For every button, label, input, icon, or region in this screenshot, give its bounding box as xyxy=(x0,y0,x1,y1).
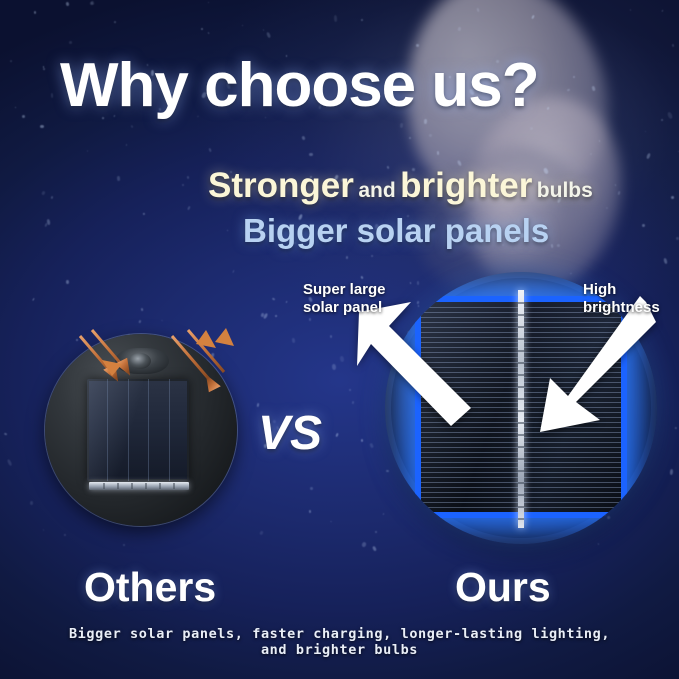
subtitle-word-stronger: Stronger xyxy=(208,166,354,205)
panel-cell-divider xyxy=(148,379,149,481)
label-versus: VS xyxy=(258,406,322,461)
callout-high-brightness: High brightness xyxy=(583,281,660,318)
subtitle-line-1: Stronger and brighter bulbs xyxy=(208,166,593,206)
panel-cell-divider xyxy=(169,379,170,481)
caption-line-1: Bigger solar panels, faster charging, lo… xyxy=(0,627,679,643)
callout-super-large-solar-panel: Super large solar panel xyxy=(303,281,386,318)
promo-poster: Why choose us? Stronger and brighter bul… xyxy=(0,0,679,679)
subtitle-word-and: and xyxy=(358,179,395,202)
others-solar-panel xyxy=(87,379,189,481)
callout-right-line-2: brightness xyxy=(583,299,660,317)
page-title: Why choose us? xyxy=(60,50,539,121)
callout-left-line-2: solar panel xyxy=(303,299,386,317)
others-product-disc xyxy=(45,334,237,526)
solar-panel-busbar xyxy=(518,290,524,528)
panel-cell-divider xyxy=(107,379,108,481)
callout-left-line-1: Super large xyxy=(303,281,386,299)
subtitle-word-bulbs: bulbs xyxy=(537,179,593,202)
callout-right-line-1: High xyxy=(583,281,660,299)
caption-line-2: and brighter bulbs xyxy=(0,643,679,659)
panel-cell-divider xyxy=(128,379,129,481)
sensor-lens-icon xyxy=(129,353,151,369)
bottom-caption: Bigger solar panels, faster charging, lo… xyxy=(0,627,679,659)
label-ours: Ours xyxy=(455,564,551,611)
subtitle-line-2: Bigger solar panels xyxy=(243,212,549,250)
subtitle-word-brighter: brighter xyxy=(400,166,532,205)
label-others: Others xyxy=(84,564,216,611)
panel-shine xyxy=(87,379,143,481)
others-led-strip xyxy=(89,482,189,490)
